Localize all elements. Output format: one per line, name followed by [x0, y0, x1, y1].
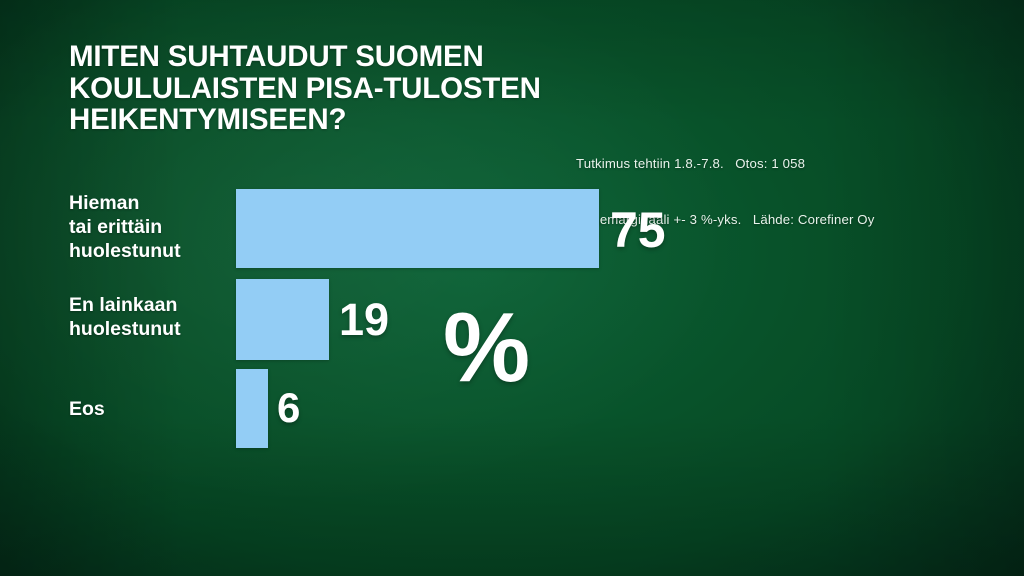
- bar-value-label-0: 75: [610, 205, 666, 255]
- bar-1: [236, 279, 329, 360]
- bar-2: [236, 369, 268, 448]
- bar-chart: Hieman tai erittäin huolestunut 75 En la…: [0, 0, 1024, 576]
- infographic-canvas: MITEN SUHTAUDUT SUOMEN KOULULAISTEN PISA…: [0, 0, 1024, 576]
- percent-symbol: %: [443, 298, 530, 396]
- bar-0: [236, 189, 599, 268]
- bar-category-label-0: Hieman tai erittäin huolestunut: [69, 192, 181, 263]
- bar-category-label-2: Eos: [69, 398, 105, 422]
- bar-category-label-1: En lainkaan huolestunut: [69, 294, 181, 342]
- bar-value-label-2: 6: [277, 387, 300, 429]
- bar-value-label-1: 19: [339, 297, 389, 342]
